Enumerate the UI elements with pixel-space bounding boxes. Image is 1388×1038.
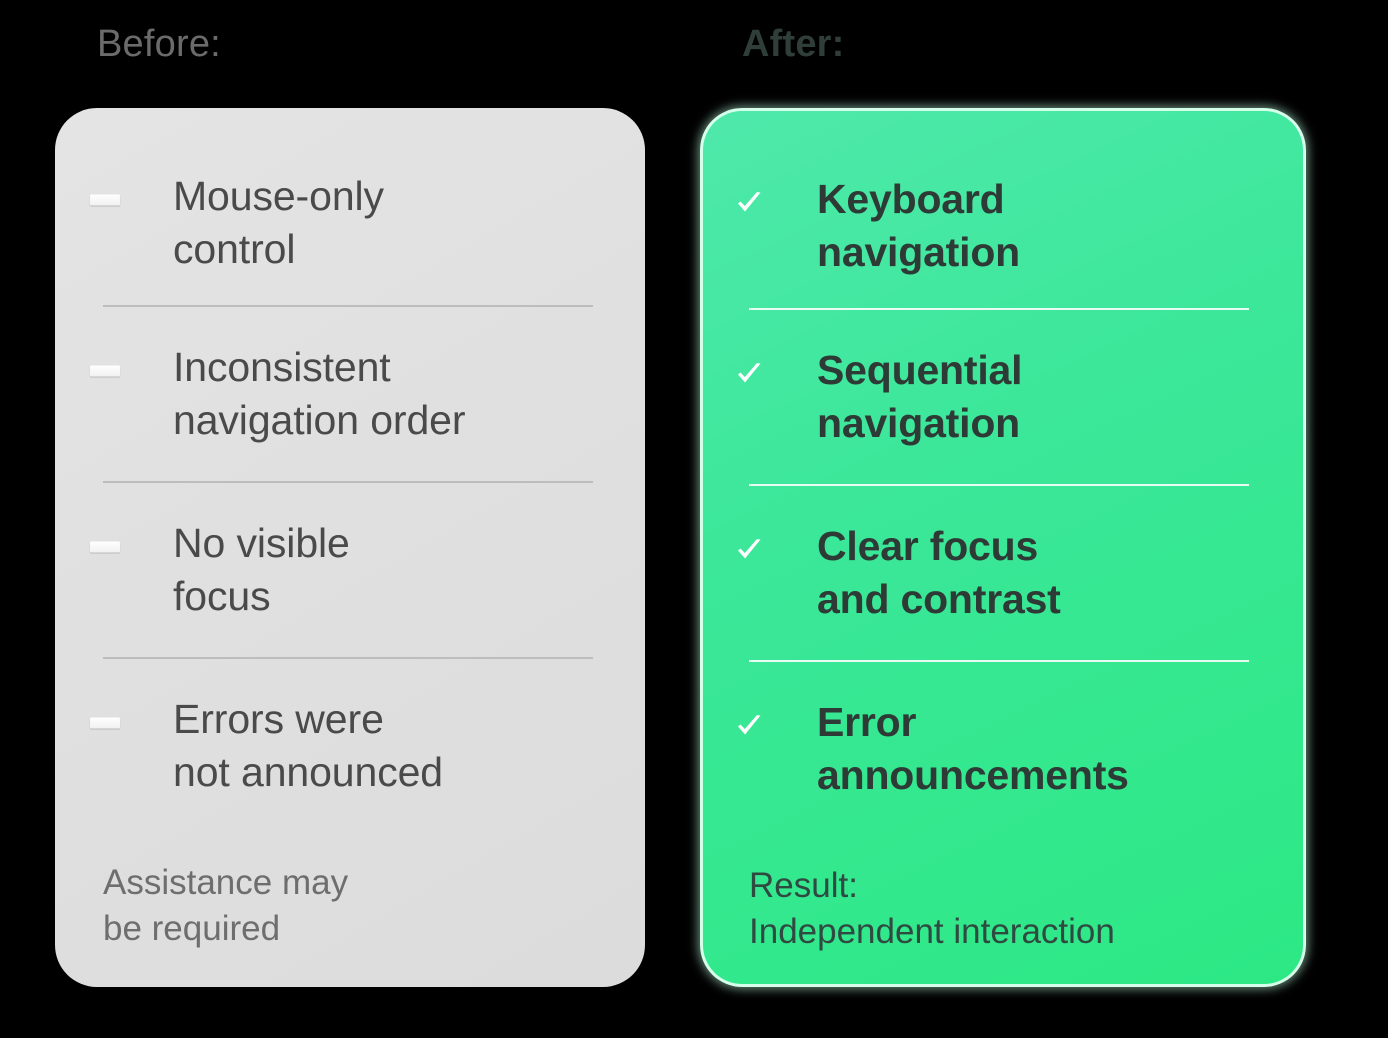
- check-box-icon: [749, 726, 795, 772]
- no-entry-icon: [105, 371, 151, 417]
- list-item: Clear focus and contrast: [749, 485, 1297, 661]
- list-item: Error announcements: [749, 661, 1297, 837]
- no-entry-icon: [105, 200, 151, 246]
- list-item-label: Sequential navigation: [817, 344, 1297, 450]
- check-box-icon: [749, 374, 795, 420]
- before-card-footer: Assistance may be required: [103, 860, 603, 952]
- list-item: Keyboard navigation: [749, 143, 1297, 309]
- list-item-label: Errors were not announced: [173, 693, 635, 799]
- after-card-footer: Result: Independent interaction: [749, 863, 1269, 955]
- list-item: Inconsistent navigation order: [105, 306, 635, 482]
- list-item-label: Error announcements: [817, 696, 1297, 802]
- after-card: Keyboard navigation Sequential navigatio…: [700, 108, 1306, 987]
- list-item-label: Clear focus and contrast: [817, 520, 1297, 626]
- after-card-inner: Keyboard navigation Sequential navigatio…: [703, 111, 1303, 984]
- after-column-heading: After:: [742, 22, 845, 66]
- no-entry-icon: [105, 723, 151, 769]
- list-item-label: Inconsistent navigation order: [173, 341, 635, 447]
- no-entry-icon: [105, 547, 151, 593]
- before-card-inner: Mouse-only control Inconsistent navigati…: [55, 108, 645, 987]
- list-item: Sequential navigation: [749, 309, 1297, 485]
- list-item: Mouse-only control: [105, 140, 635, 306]
- list-item-label: Mouse-only control: [173, 170, 635, 276]
- check-box-icon: [749, 550, 795, 596]
- before-card: Mouse-only control Inconsistent navigati…: [55, 108, 645, 987]
- before-column-heading: Before:: [97, 22, 221, 66]
- comparison-stage: Before: After: Mouse-only control Incons…: [0, 0, 1388, 1038]
- list-item: No visible focus: [105, 482, 635, 658]
- list-item: Errors were not announced: [105, 658, 635, 834]
- list-item-label: Keyboard navigation: [817, 173, 1297, 279]
- list-item-label: No visible focus: [173, 517, 635, 623]
- check-box-icon: [749, 203, 795, 249]
